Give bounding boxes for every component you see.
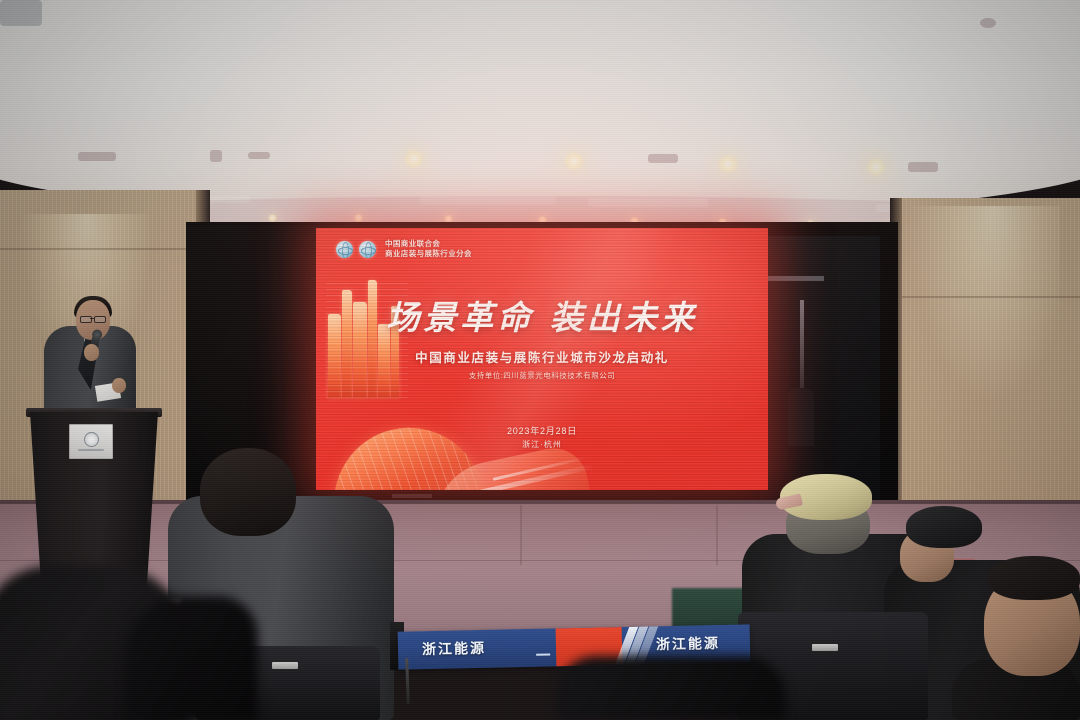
eyeglasses-icon [80, 316, 106, 321]
ceiling-vent [78, 152, 116, 161]
emblem-icon [84, 432, 99, 447]
ceiling-vent [648, 154, 678, 163]
led-screen: 中国商业联合会 商业店装与展陈行业分会 场景革命 装出未来 中国商业店装与展陈行… [316, 228, 768, 490]
chair-label-tag [272, 662, 298, 669]
ceiling-air-grille [420, 196, 556, 205]
audience-collar [0, 0, 42, 26]
conference-hall-photo: 中国商业联合会 商业店装与展陈行业分会 场景革命 装出未来 中国商业店装与展陈行… [0, 0, 1080, 720]
doorway-light-strip [766, 276, 824, 281]
ceiling-downlight [866, 158, 886, 176]
ceiling-vent [248, 152, 270, 159]
right-wall-seam [898, 296, 1080, 298]
chair-label-tag [812, 644, 838, 651]
ceiling-vent [908, 162, 938, 172]
ceiling-downlight [564, 152, 584, 170]
carpet-seam [520, 505, 522, 565]
ceiling-air-grille [588, 198, 708, 207]
stage-side-lamp [392, 494, 432, 498]
ceiling-vent [210, 150, 222, 162]
doorway-silhouette [788, 388, 814, 446]
ceiling-downlight [404, 150, 424, 168]
left-wall-seam [0, 248, 208, 250]
foreground-figure-center [556, 656, 786, 720]
banner-text-left: 浙江能源 [422, 639, 486, 658]
audience-head [200, 448, 296, 536]
ceiling-downlight [718, 155, 738, 173]
baseball-cap-icon [906, 506, 982, 548]
stage-front-edge [0, 500, 1080, 504]
speaker-hand-secondary [112, 378, 126, 393]
ceiling-upper-surface [0, 0, 1080, 220]
stage-downlight [268, 214, 277, 222]
screen-scanlines [316, 228, 768, 490]
banner-text-right: 浙江能源 [656, 634, 720, 653]
plaque-text-line [78, 449, 104, 451]
audience-hair [988, 556, 1080, 600]
podium-plaque [69, 424, 113, 459]
doorway-vertical-light [800, 300, 804, 392]
ceiling-sprinkler [980, 18, 996, 28]
right-wall-spotlight [910, 206, 1060, 396]
stage-downlight [354, 214, 363, 222]
banner-dash [536, 654, 550, 656]
carpet-seam [716, 505, 718, 565]
foreground-figure-left-second [126, 596, 258, 720]
speaker-hand [84, 344, 99, 361]
audience-member-suited-center [0, 0, 42, 26]
